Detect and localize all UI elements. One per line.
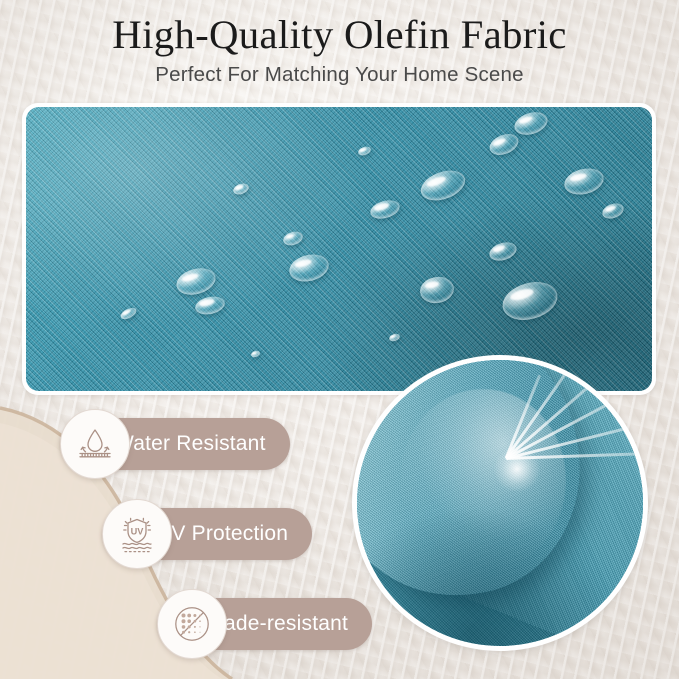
product-feature-infographic: High-Quality Olefin Fabric Perfect For M… (0, 0, 679, 679)
feature-icon-circle (157, 589, 227, 659)
circle-photo-inner (357, 360, 643, 646)
page-subtitle: Perfect For Matching Your Home Scene (0, 63, 679, 87)
feature-badge-fade-resistant[interactable]: Fade-resistant (157, 598, 372, 650)
water-beading-fabric-photo (22, 103, 656, 395)
header: High-Quality Olefin Fabric Perfect For M… (0, 14, 679, 87)
page-title: High-Quality Olefin Fabric (0, 14, 679, 56)
fabric-lighting-sheen (26, 107, 652, 391)
feature-icon-circle: UV (102, 499, 172, 569)
svg-text:UV: UV (131, 527, 145, 537)
uv-shield-icon: UV (115, 512, 159, 556)
fabric-photo-inner (26, 107, 652, 391)
feature-label: UV Protection (156, 522, 288, 546)
feature-label: Water Resistant (114, 432, 266, 456)
water-drop-repel-icon (73, 422, 117, 466)
feature-badge-water-resistant[interactable]: Water Resistant (60, 418, 290, 470)
feature-icon-circle (60, 409, 130, 479)
circle-inner-shadow (357, 360, 643, 646)
feature-label: Fade-resistant (211, 612, 348, 636)
no-fade-dots-icon (169, 601, 215, 647)
feature-badge-uv-protection[interactable]: UV Protection UV (102, 508, 312, 560)
folded-fabric-closeup-photo (352, 355, 648, 651)
